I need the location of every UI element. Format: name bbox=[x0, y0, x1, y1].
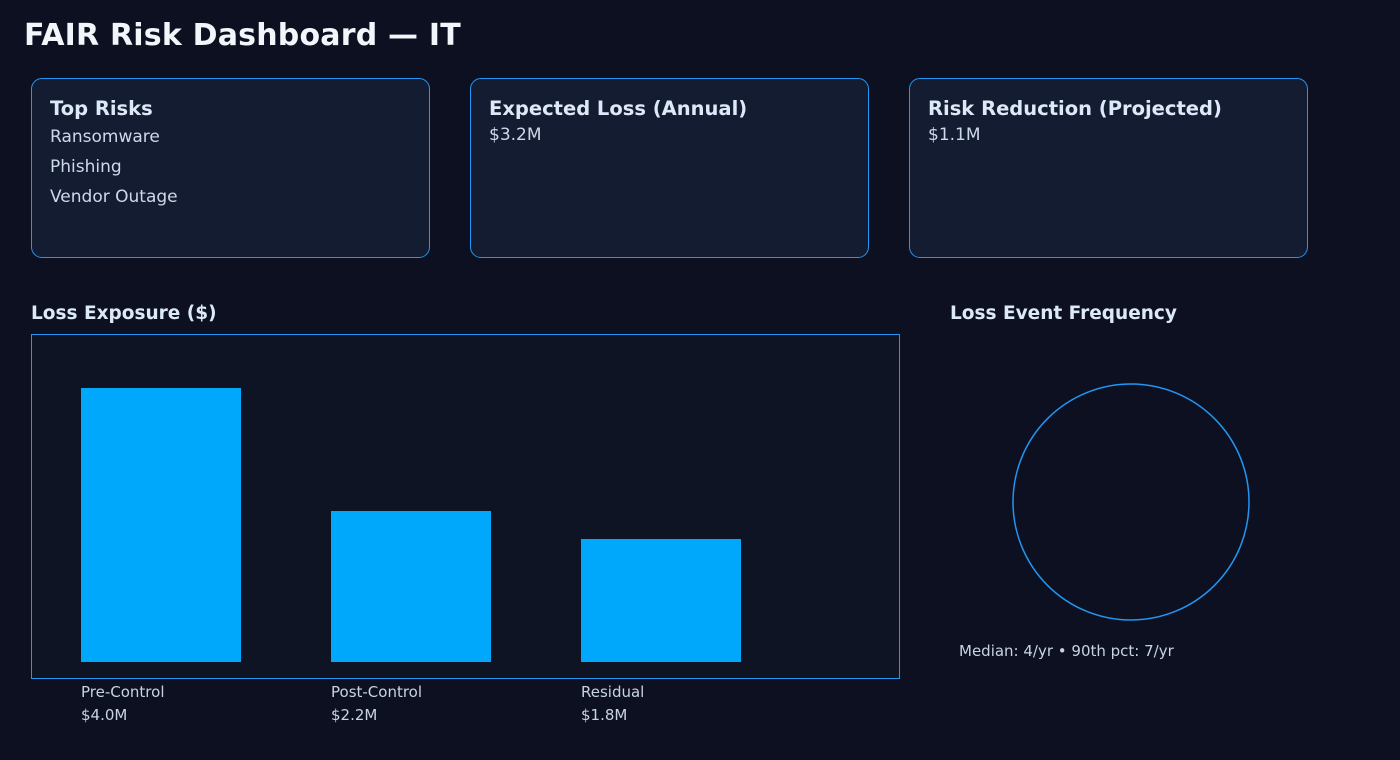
bar-label-value: $2.2M bbox=[331, 704, 422, 727]
bar-chart-bars bbox=[31, 334, 900, 679]
kpi-card-title: Top Risks bbox=[50, 96, 411, 122]
kpi-card-value: $3.2M bbox=[489, 122, 850, 148]
page-title: FAIR Risk Dashboard — IT bbox=[24, 18, 461, 53]
bar-label-category: Residual bbox=[581, 683, 644, 701]
frequency-caption: Median: 4/yr • 90th pct: 7/yr bbox=[959, 642, 1174, 660]
kpi-card-value: $1.1M bbox=[928, 122, 1289, 148]
list-item: Vendor Outage bbox=[50, 182, 411, 212]
bar-label-category: Post-Control bbox=[331, 683, 422, 701]
frequency-circle-icon bbox=[1012, 383, 1250, 621]
bar-label-value: $1.8M bbox=[581, 704, 644, 727]
bar-label: Pre-Control$4.0M bbox=[81, 681, 164, 727]
bar[interactable] bbox=[81, 388, 241, 662]
kpi-card-expected-loss[interactable]: Expected Loss (Annual) $3.2M bbox=[470, 78, 869, 258]
kpi-card-risk-reduction[interactable]: Risk Reduction (Projected) $1.1M bbox=[909, 78, 1308, 258]
bar[interactable] bbox=[581, 539, 741, 662]
loss-exposure-heading: Loss Exposure ($) bbox=[31, 303, 217, 324]
bar-label-category: Pre-Control bbox=[81, 683, 164, 701]
bar-label: Residual$1.8M bbox=[581, 681, 644, 727]
loss-event-frequency-panel: Median: 4/yr • 90th pct: 7/yr bbox=[950, 334, 1370, 679]
kpi-card-title: Expected Loss (Annual) bbox=[489, 96, 850, 122]
kpi-card-top-risks[interactable]: Top Risks Ransomware Phishing Vendor Out… bbox=[31, 78, 430, 258]
kpi-card-title: Risk Reduction (Projected) bbox=[928, 96, 1289, 122]
bar[interactable] bbox=[331, 511, 491, 662]
bar-label: Post-Control$2.2M bbox=[331, 681, 422, 727]
bar-label-value: $4.0M bbox=[81, 704, 164, 727]
list-item: Ransomware bbox=[50, 122, 411, 152]
kpi-card-row: Top Risks Ransomware Phishing Vendor Out… bbox=[31, 78, 1341, 258]
bar-chart-axis-labels: Pre-Control$4.0MPost-Control$2.2MResidua… bbox=[31, 681, 900, 741]
list-item: Phishing bbox=[50, 152, 411, 182]
top-risks-list: Ransomware Phishing Vendor Outage bbox=[50, 122, 411, 213]
loss-frequency-heading: Loss Event Frequency bbox=[950, 303, 1177, 324]
